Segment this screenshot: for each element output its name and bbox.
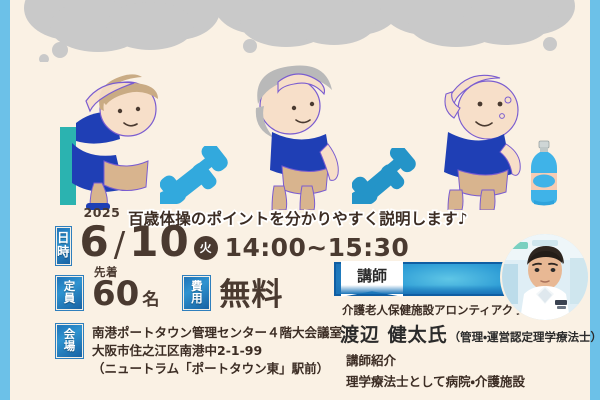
- fee-value: 無料: [219, 280, 283, 310]
- event-day: 10: [129, 217, 189, 266]
- event-day-of-week: 火: [194, 236, 218, 260]
- thought-bubble-center: 体力どれくらいある のかな？: [212, 0, 402, 62]
- instructor-portrait: [502, 234, 588, 320]
- lecturer-name: 渡辺 健太氏: [340, 320, 448, 347]
- lecturer-badge: 講師: [341, 261, 403, 297]
- lecturer-bio-text: 理学療法士として病院・介護施設: [346, 371, 590, 390]
- standing-bend-person-illustration: [232, 60, 367, 210]
- capacity-prefix: 先着: [94, 264, 118, 280]
- lecturer-intro-label: 講師紹介: [346, 350, 590, 369]
- date-separator: /: [110, 225, 129, 265]
- water-bottle-icon: [524, 140, 564, 206]
- venue-line-1: 南港ポートタウン管理センター４階大会議室: [92, 324, 342, 342]
- event-month: 6: [80, 217, 110, 266]
- capacity-tag: 定 員: [56, 276, 83, 310]
- flyer-canvas: もっと詳しく 取り組みたい！ 体力どれくらいある のかな？: [0, 0, 600, 400]
- venue-line-2: 大阪市住之江区南港中2-1-99: [92, 342, 342, 360]
- lecturer-banner: 講師: [334, 262, 520, 296]
- venue-tag: 会 場: [56, 324, 83, 358]
- event-year: 2025: [84, 205, 121, 220]
- event-info-block: 日 時 2025 6/10火14:00~15:30 定 員 先着 60名: [56, 222, 356, 378]
- portrait-image: [502, 234, 588, 320]
- datetime-tag: 日 時: [56, 227, 71, 265]
- venue-row: 会 場 南港ポートタウン管理センター４階大会議室 大阪市住之江区南港中2-1-9…: [56, 324, 356, 378]
- cloud-shape-icon: [212, 0, 402, 62]
- venue-address: 南港ポートタウン管理センター４階大会議室 大阪市住之江区南港中2-1-99 （ニ…: [92, 324, 342, 378]
- cloud-shape-icon: [378, 0, 578, 60]
- venue-line-3: （ニュートラム「ポートタウン東」駅前）: [92, 360, 342, 378]
- dumbbell-icon: [352, 148, 418, 204]
- datetime-row: 日 時 2025 6/10火14:00~15:30: [56, 222, 356, 265]
- thought-bubble-group: もっと詳しく 取り組みたい！ 体力どれくらいある のかな？: [0, 0, 600, 62]
- date-values: 2025 6/10火14:00~15:30: [80, 222, 410, 265]
- capacity-unit: 名: [139, 290, 159, 310]
- capacity-fee-row: 定 員 先着 60名 費 用 無料: [56, 276, 356, 310]
- dumbbell-icon: [160, 146, 230, 204]
- event-time: 14:00~15:30: [225, 233, 410, 264]
- illustration-band: [0, 58, 600, 210]
- cloud-shape-icon: [18, 0, 228, 62]
- lecturer-block: 講師: [334, 262, 590, 390]
- thought-bubble-left: もっと詳しく 取り組みたい！: [18, 0, 228, 62]
- capacity-number: 60: [92, 274, 139, 314]
- lecturer-name-row: 渡辺 健太氏 （管理・運営認定理学療法士）: [340, 320, 590, 347]
- fee-tag: 費 用: [183, 276, 210, 310]
- capacity-values: 先着 60名: [92, 278, 159, 310]
- lecturer-qualification: （管理・運営認定理学療法士）: [449, 329, 600, 345]
- thought-bubble-right: 百歳体操のやり方 合ってるのかな？: [378, 0, 578, 60]
